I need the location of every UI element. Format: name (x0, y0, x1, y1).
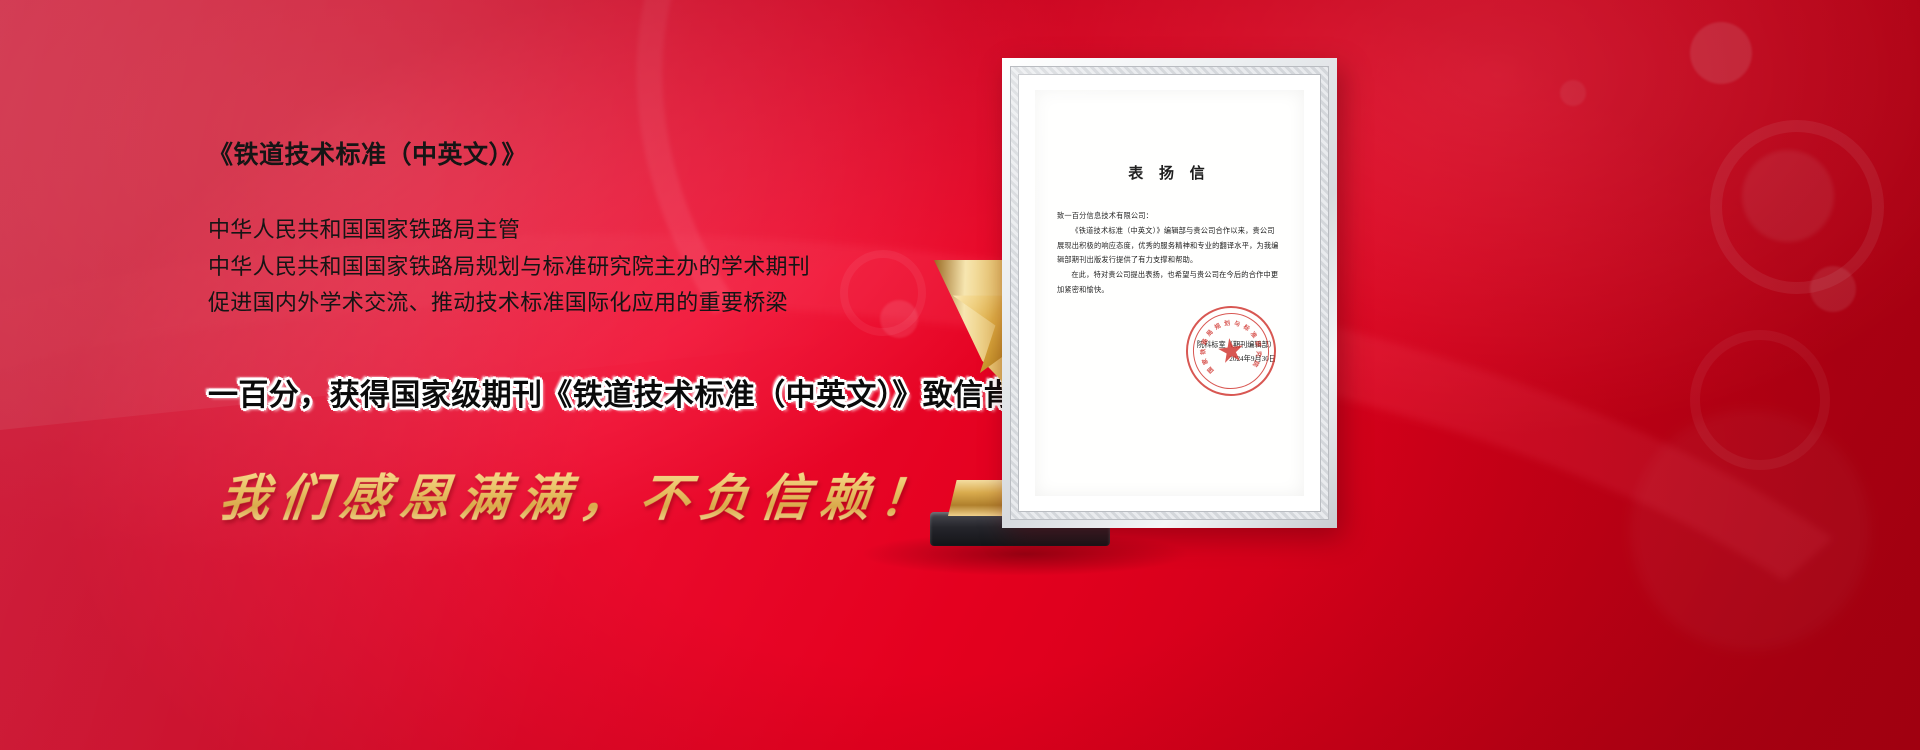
certificate-frame: 表 扬 信 致一百分信息技术有限公司： 《铁道技术标准（中英文）》编辑部与贵公司… (1002, 58, 1337, 528)
journal-title: 《铁道技术标准（中英文）》 (208, 140, 968, 170)
certificate-paper: 表 扬 信 致一百分信息技术有限公司： 《铁道技术标准（中英文）》编辑部与贵公司… (1035, 90, 1304, 496)
certificate-title: 表 扬 信 (1057, 162, 1282, 183)
description-list: 中华人民共和国国家铁路局主管 中华人民共和国国家铁路局规划与标准研究院主办的学术… (208, 212, 968, 322)
description-line-3: 促进国内外学术交流、推动技术标准国际化应用的重要桥梁 (208, 285, 968, 322)
promo-banner: 《铁道技术标准（中英文）》 中华人民共和国国家铁路局主管 中华人民共和国国家铁路… (0, 0, 1920, 750)
certificate-salutation: 致一百分信息技术有限公司： (1057, 209, 1282, 224)
calligraphy-slogan: 我们感恩满满，不负信赖！ (216, 458, 972, 530)
description-line-2: 中华人民共和国国家铁路局规划与标准研究院主办的学术期刊 (208, 249, 968, 286)
certificate-paragraph-1: 《铁道技术标准（中英文）》编辑部与贵公司合作以来，贵公司展现出积极的响应态度，优… (1057, 224, 1282, 268)
certificate-signature: 国家铁路局规划与标准研究院 院科标室（期刊编辑部） 2024年9月30日 (1057, 338, 1282, 367)
certificate-body: 致一百分信息技术有限公司： 《铁道技术标准（中英文）》编辑部与贵公司合作以来，贵… (1057, 209, 1282, 298)
headline-award-text: 一百分，获得国家级期刊《铁道技术标准（中英文）》致信肯定! (208, 370, 968, 414)
certificate-paragraph-2: 在此，特对贵公司提出表扬，也希望与贵公司在今后的合作中更加紧密和愉快。 (1057, 268, 1282, 298)
left-text-block: 《铁道技术标准（中英文）》 中华人民共和国国家铁路局主管 中华人民共和国国家铁路… (208, 140, 968, 530)
red-seal-stamp: 国家铁路局规划与标准研究院 (1180, 300, 1282, 402)
description-line-1: 中华人民共和国国家铁路局主管 (208, 212, 968, 249)
seal-text: 国家铁路局规划与标准研究院 (1182, 302, 1279, 399)
